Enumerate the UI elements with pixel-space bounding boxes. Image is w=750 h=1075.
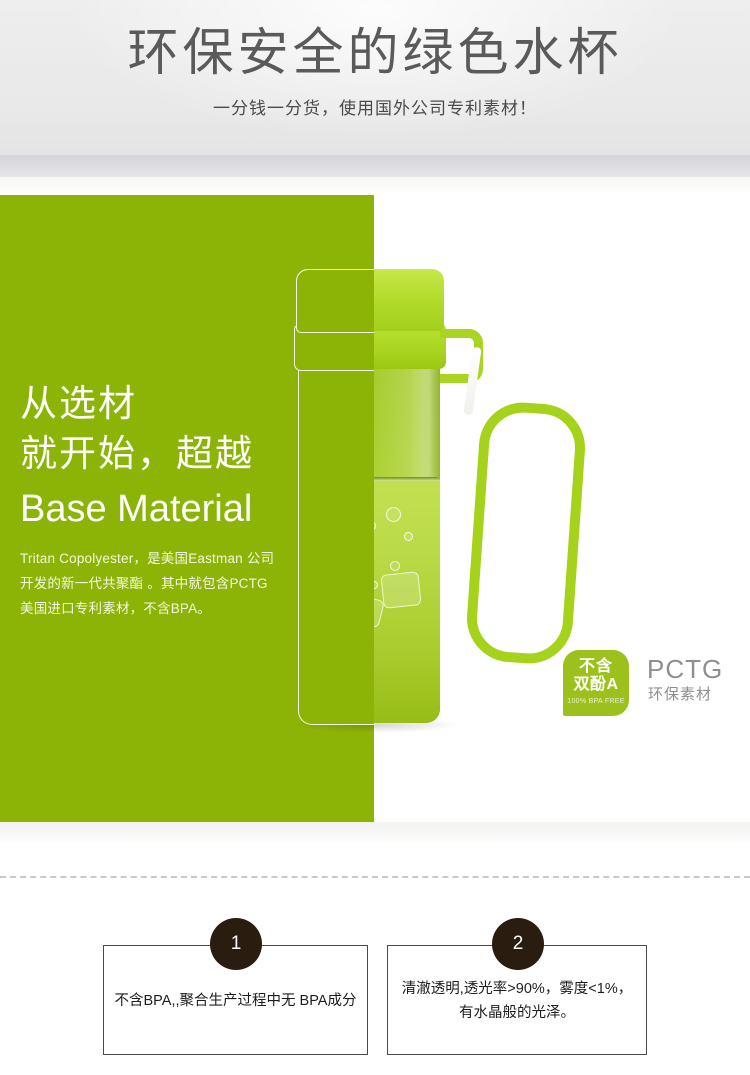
feature-2-line-2: 有水晶般的光泽。 [459,1001,575,1025]
ice-cube [380,571,421,609]
bubble-icon [390,561,400,571]
pctg-label: PCTG [647,654,723,684]
header-shelf-band [0,155,750,177]
hero-section: 从选材 就开始，超越 Base Material Tritan Copolyes… [0,195,750,822]
pctg-sublabel: 环保素材 [648,685,712,705]
header-shelf-highlight [0,177,750,195]
bpa-badge-line1: 不含 [563,657,629,676]
feature-box-1: 1 不含BPA,,聚合生产过程中无 BPA成分 [103,945,368,1055]
page-title: 环保安全的绿色水杯 [0,22,750,84]
hero-bottom-shelf [0,822,750,842]
bottle-outline-overlay [290,255,374,775]
feature-text-2: 清澈透明,透光率>90%，雾度<1%， 有水晶般的光泽。 [388,946,646,1056]
bottle-strap-loop [464,400,588,667]
bottle-outline-cap [296,269,374,333]
bpa-free-badge: 不含 双酚A 100% BPA FREE [563,650,629,716]
bubble-icon [386,507,401,522]
feature-text-1: 不含BPA,,聚合生产过程中无 BPA成分 [104,946,367,1056]
feature-1-line-1: 不含BPA,,聚合生产过程中无 BPA成分 [115,989,357,1013]
page-header: 环保安全的绿色水杯 一分钱一分货，使用国外公司专利素材！ [0,0,750,155]
bottle-outline-body [298,323,374,725]
bpa-badge-line2: 双酚A [563,675,629,694]
feature-boxes: 1 不含BPA,,聚合生产过程中无 BPA成分 2 清澈透明,透光率>90%，雾… [0,945,750,1075]
section-divider [0,876,750,878]
feature-box-2: 2 清澈透明,透光率>90%，雾度<1%， 有水晶般的光泽。 [387,945,647,1055]
bpa-free-badge-group: 不含 双酚A 100% BPA FREE PCTG 环保素材 [563,650,743,722]
bpa-badge-line3: 100% BPA FREE [563,697,629,707]
feature-2-line-1: 清澈透明,透光率>90%，雾度<1%， [402,977,632,1001]
bubble-icon [404,532,413,541]
page-subtitle: 一分钱一分货，使用国外公司专利素材！ [0,96,750,122]
